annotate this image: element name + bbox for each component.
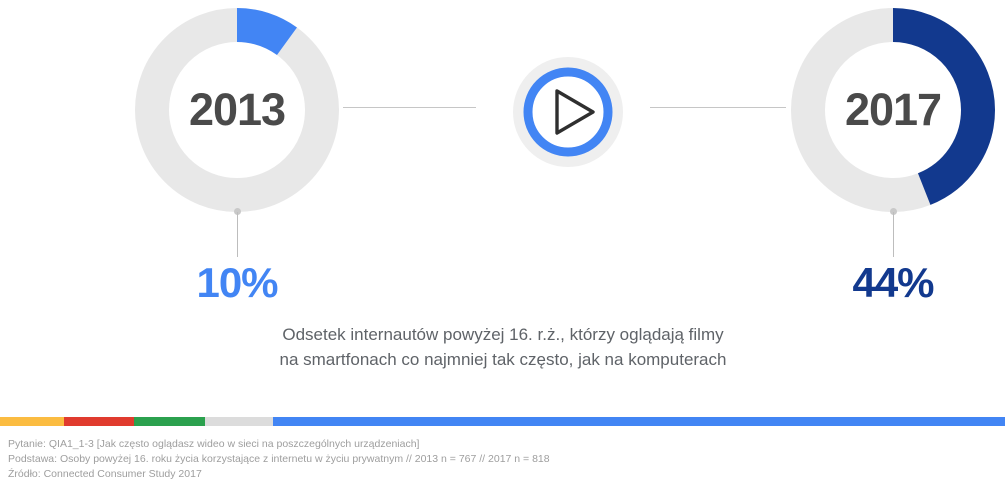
footnotes: Pytanie: QIA1_1-3 [Jak często oglądasz w… xyxy=(8,437,550,482)
color-bar-segment-red xyxy=(64,417,134,426)
infographic-canvas: 2013 10% 2017 44% Odsetek internautów po… xyxy=(0,0,1005,484)
footnote-base: Podstawa: Osoby powyżej 16. roku życia k… xyxy=(8,452,550,467)
caption-line-2: na smartfonach co najmniej tak często, j… xyxy=(253,347,753,372)
play-button[interactable] xyxy=(513,57,623,167)
donut-chart-2013: 2013 xyxy=(135,8,339,212)
footnote-source: Źródło: Connected Consumer Study 2017 xyxy=(8,467,550,482)
connector-line-left xyxy=(343,107,476,108)
caption: Odsetek internautów powyżej 16. r.ż., kt… xyxy=(253,322,753,372)
color-bar-segment-blue xyxy=(273,417,1005,426)
color-bar-segment-gray xyxy=(205,417,273,426)
color-bar-segment-green xyxy=(134,417,205,426)
footnote-question: Pytanie: QIA1_1-3 [Jak często oglądasz w… xyxy=(8,437,550,452)
leader-line-2017 xyxy=(893,212,894,257)
donut-2013-track xyxy=(152,25,322,195)
play-button-ring xyxy=(528,72,608,152)
color-bar-segment-yellow xyxy=(0,417,64,426)
percent-label-2017: 44% xyxy=(774,259,1005,307)
leader-line-2013 xyxy=(237,212,238,257)
donut-chart-2017: 2017 xyxy=(791,8,995,212)
caption-line-1: Odsetek internautów powyżej 16. r.ż., kt… xyxy=(253,322,753,347)
play-icon[interactable] xyxy=(513,57,623,167)
color-bar xyxy=(0,417,1005,426)
donut-2013-svg xyxy=(135,8,339,212)
percent-label-2013: 10% xyxy=(118,259,356,307)
connector-line-right xyxy=(650,107,786,108)
donut-2017-svg xyxy=(791,8,995,212)
